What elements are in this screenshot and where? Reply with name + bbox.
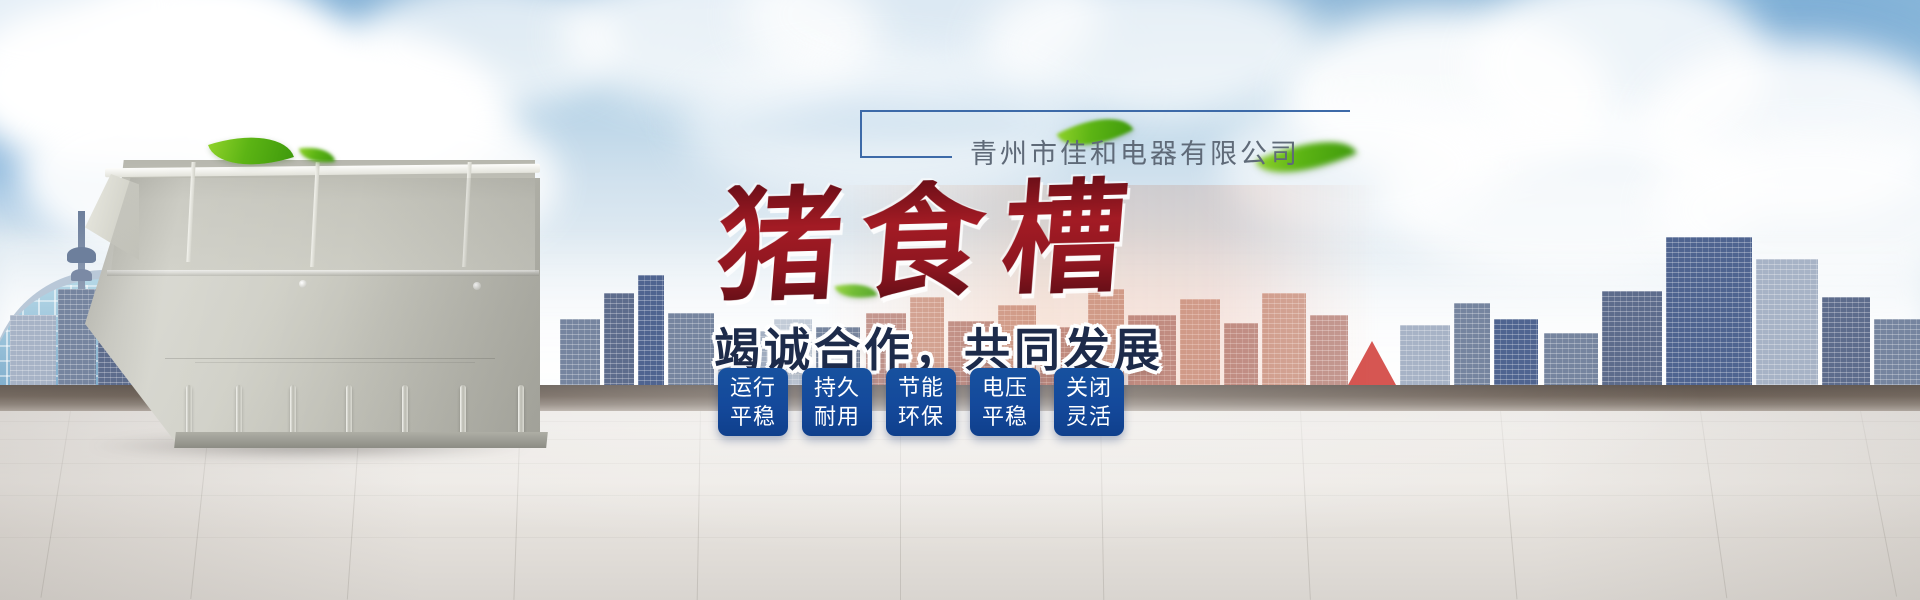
feature-badge[interactable]: 电压 平稳 xyxy=(970,368,1040,436)
frame-bottom-line xyxy=(860,156,952,158)
badge-line-1: 关闭 xyxy=(1066,373,1112,402)
feature-badge[interactable]: 运行 平稳 xyxy=(718,368,788,436)
feature-badge[interactable]: 持久 耐用 xyxy=(802,368,872,436)
badge-line-1: 运行 xyxy=(730,373,776,402)
company-name-frame: 青州市佳和电器有限公司 xyxy=(700,96,1340,158)
tv-tower-icon xyxy=(78,211,85,289)
feature-badge-list: 运行 平稳 持久 耐用 节能 环保 电压 平稳 关闭 灵活 xyxy=(718,368,1124,436)
hero-title-group: 猪食槽 猪食槽 xyxy=(700,180,1340,306)
feature-badge[interactable]: 节能 环保 xyxy=(886,368,956,436)
frame-left-line xyxy=(860,110,862,158)
badge-line-1: 持久 xyxy=(814,373,860,402)
product-photo-pig-feeder xyxy=(85,160,555,460)
badge-line-2: 灵活 xyxy=(1066,402,1112,431)
badge-line-2: 环保 xyxy=(898,402,944,431)
badge-line-2: 耐用 xyxy=(814,402,860,431)
feeder-base-frame xyxy=(174,432,548,448)
frame-top-line xyxy=(860,110,1350,112)
badge-line-1: 节能 xyxy=(898,373,944,402)
badge-line-2: 平稳 xyxy=(730,402,776,431)
badge-line-1: 电压 xyxy=(982,373,1028,402)
feature-badge[interactable]: 关闭 灵活 xyxy=(1054,368,1124,436)
badge-line-2: 平稳 xyxy=(982,402,1028,431)
hero-title: 猪食槽 xyxy=(713,174,1150,309)
promo-banner: 青州市佳和电器有限公司 猪食槽 猪食槽 竭诚合作，共同发展 运行 平稳 持久 耐… xyxy=(0,0,1920,600)
banner-copy: 青州市佳和电器有限公司 猪食槽 猪食槽 竭诚合作，共同发展 xyxy=(700,96,1340,380)
